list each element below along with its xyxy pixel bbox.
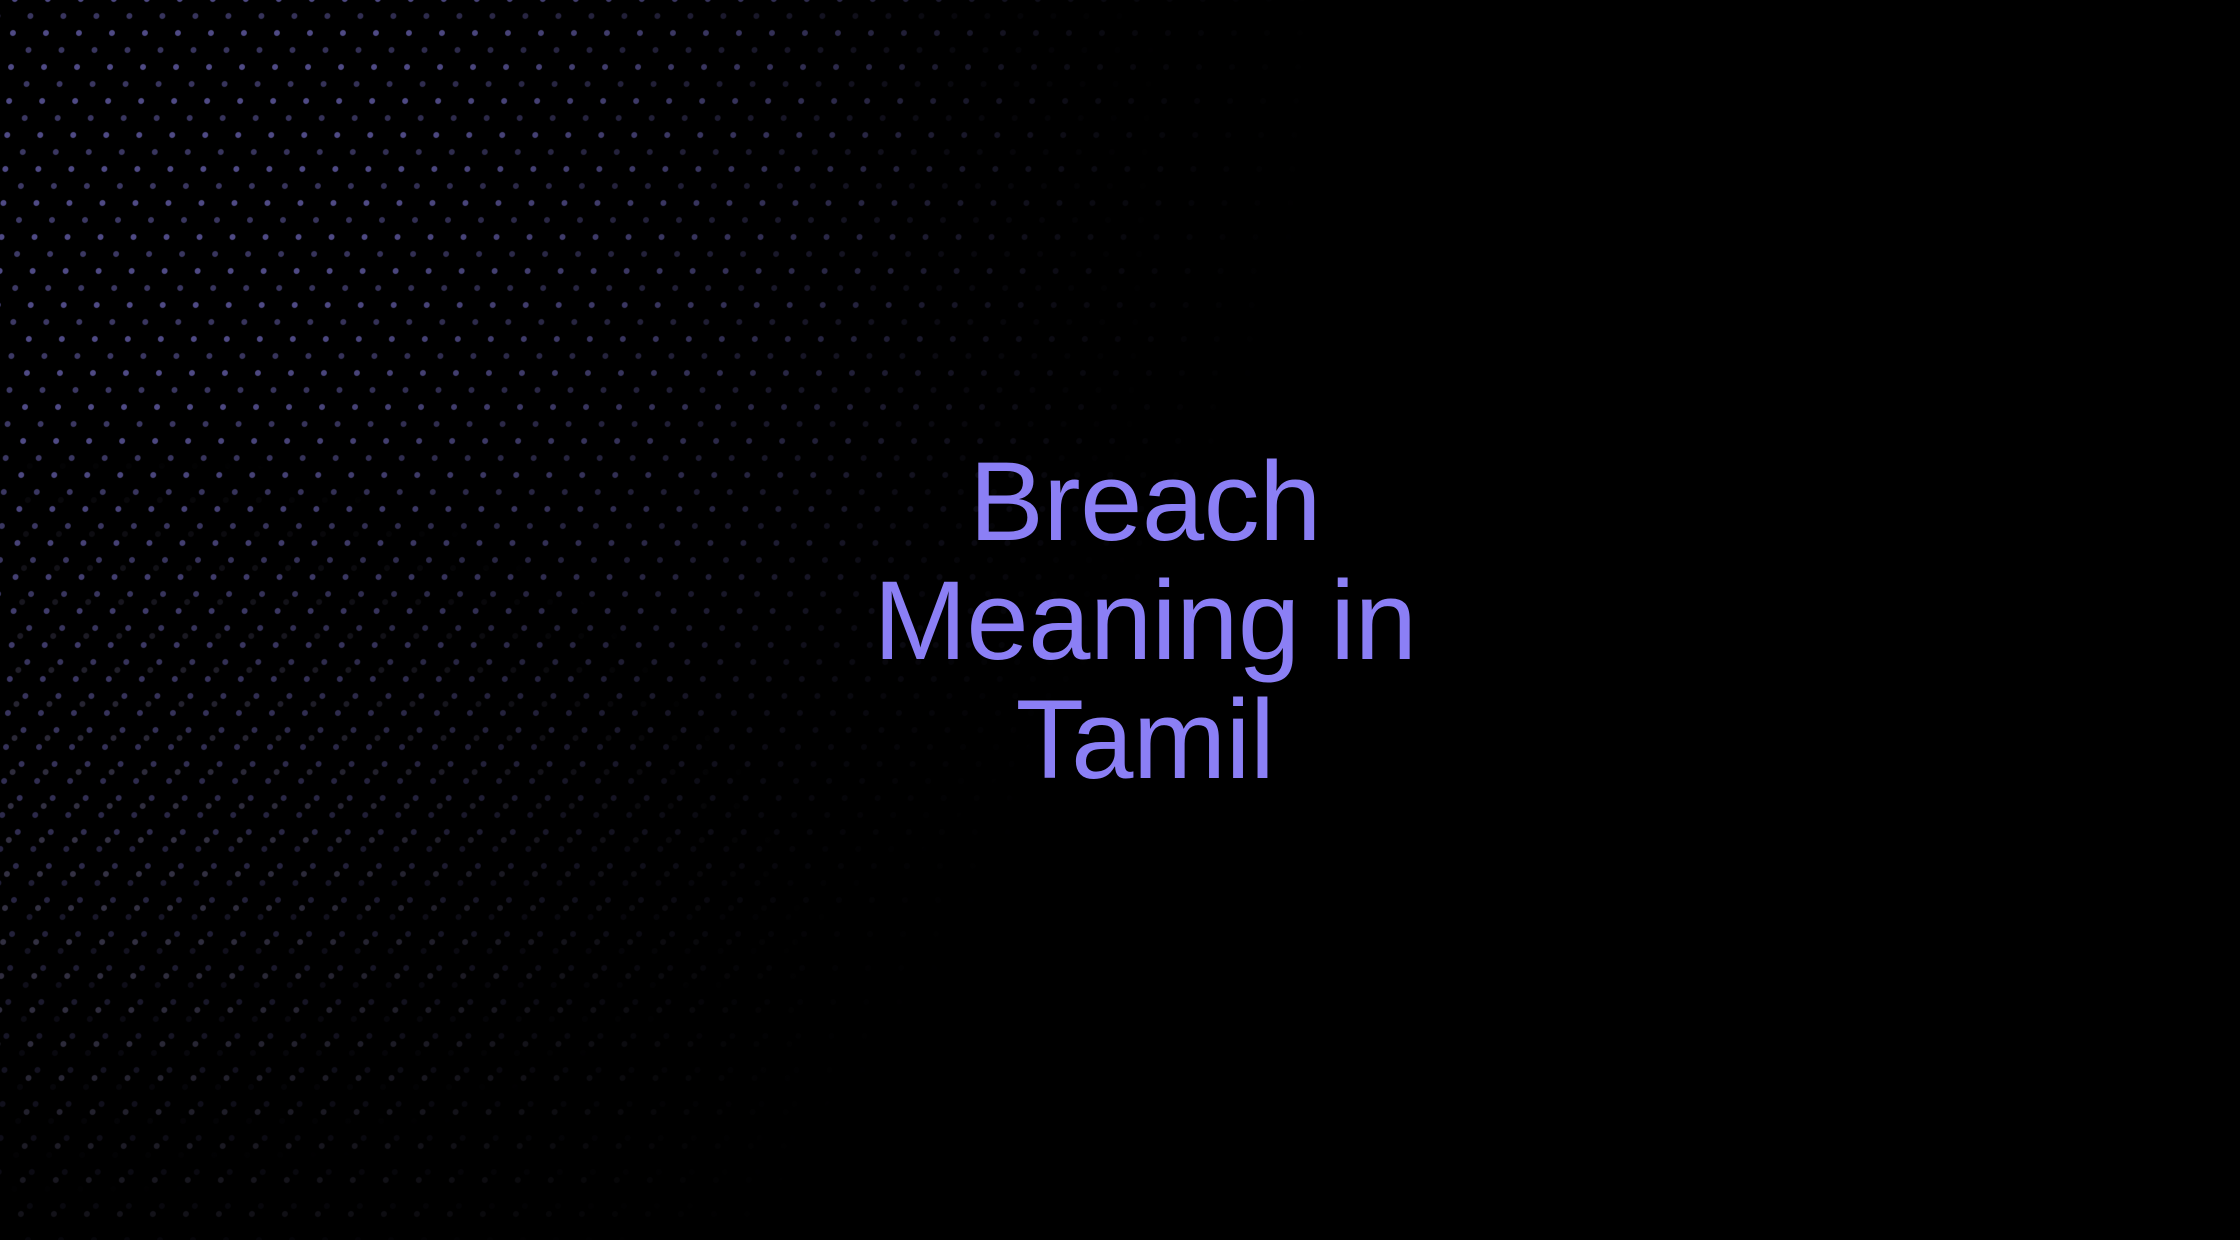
title-card: Breach Meaning in Tamil — [0, 0, 2240, 1240]
page-title: Breach Meaning in Tamil — [825, 442, 1465, 799]
headline-container: Breach Meaning in Tamil — [0, 0, 2240, 1240]
